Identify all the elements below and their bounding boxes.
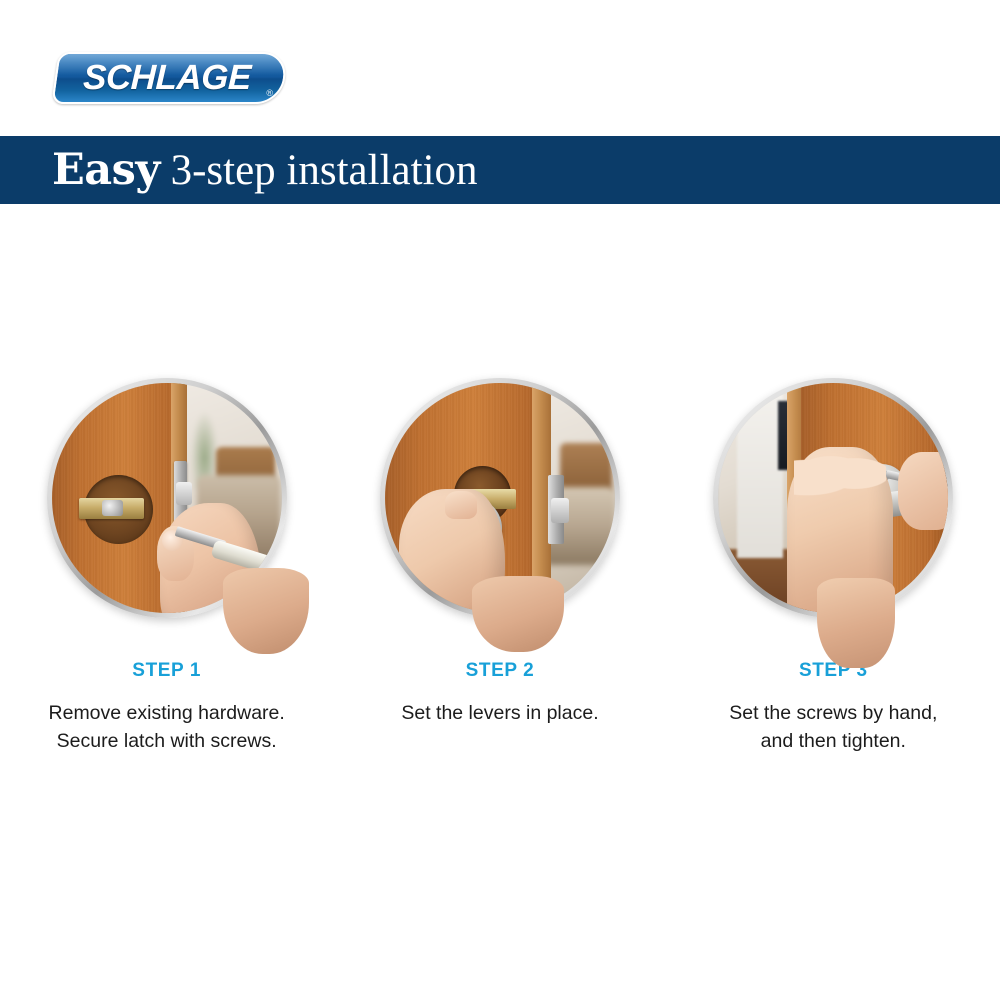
scene-lever-install (385, 383, 615, 613)
step-3-photo (713, 378, 953, 618)
steps-row: STEP 1 Remove existing hardware. Secure … (0, 360, 1000, 755)
step-3-description: Set the screws by hand, and then tighten… (713, 700, 953, 755)
hallway-wall-blur (737, 383, 783, 558)
step-1-photo (47, 378, 287, 618)
scene-latch-install (52, 383, 282, 613)
bed-headboard-blur (560, 443, 612, 494)
fingers (794, 447, 886, 498)
registered-trademark-icon: ® (266, 88, 273, 98)
step-2-label: STEP 2 (466, 660, 535, 682)
step-3-label: STEP 3 (799, 660, 868, 682)
infographic-page: SCHLAGE ® Easy 3-step installation (0, 0, 1000, 1000)
step-card-1: STEP 1 Remove existing hardware. Secure … (0, 360, 333, 755)
schlage-logo: SCHLAGE ® (55, 52, 285, 104)
step-1-description: Remove existing hardware. Secure latch w… (47, 700, 287, 755)
latch-tongue (176, 482, 192, 505)
hand-holding-screwdriver (898, 452, 949, 530)
step-2-photo (380, 378, 620, 618)
photo-clip-2 (385, 383, 615, 613)
latch-tongue (551, 498, 569, 523)
photo-clip-3 (718, 383, 948, 613)
step-card-2: STEP 2 Set the levers in place. (333, 360, 666, 755)
logo-wordmark: SCHLAGE (54, 52, 286, 104)
index-finger (445, 491, 477, 519)
photo-clip-1 (52, 383, 282, 613)
headline-text: Easy 3-step installation (0, 149, 478, 192)
scene-screw-tighten (718, 383, 948, 613)
headline-banner: Easy 3-step installation (0, 136, 1000, 204)
headline-remainder: 3-step installation (160, 147, 478, 194)
headline-emphasis: Easy (52, 145, 160, 195)
step-card-3: STEP 3 Set the screws by hand, and then … (667, 360, 1000, 755)
step-1-label: STEP 1 (132, 660, 201, 682)
latch-bolt (102, 500, 123, 516)
step-2-description: Set the levers in place. (380, 700, 620, 728)
